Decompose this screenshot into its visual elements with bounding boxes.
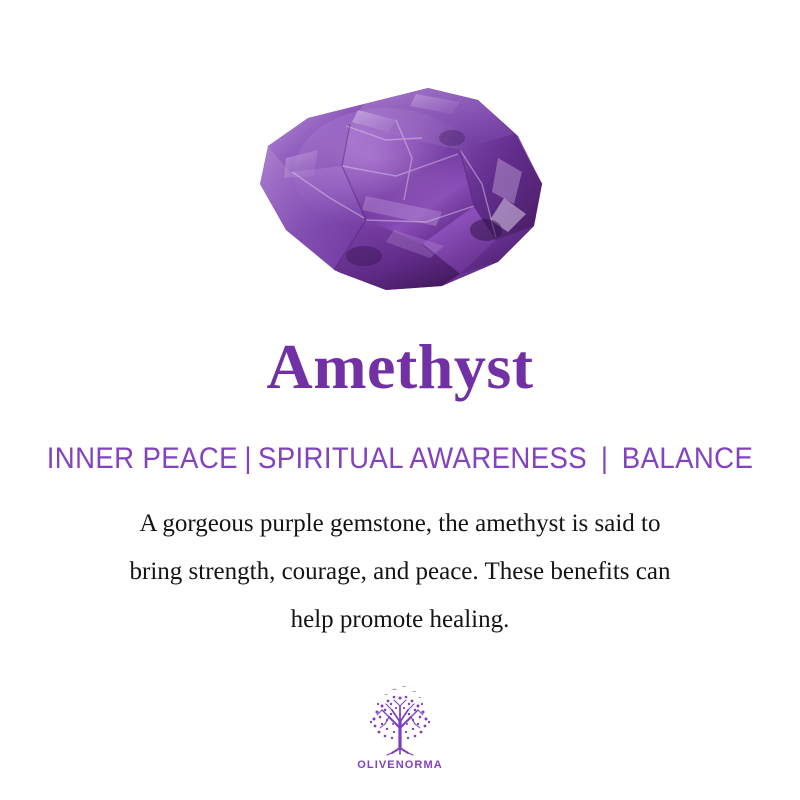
- gemstone-illustration: [246, 80, 562, 298]
- amethyst-gemstone-image: [246, 80, 562, 298]
- gem-inclusion-1: [470, 219, 502, 241]
- keyword-balance: BALANCE: [622, 442, 753, 475]
- description-text: A gorgeous purple gemstone, the amethyst…: [60, 500, 740, 644]
- tree-roots: [387, 748, 413, 755]
- keyword-row: INNER PEACE|SPIRITUAL AWARENESS|BALANCE: [32, 442, 768, 475]
- keyword-spiritual-awareness: SPIRITUAL AWARENESS: [258, 442, 587, 475]
- gem-inclusion-2: [439, 130, 465, 146]
- page-title: Amethyst: [0, 333, 800, 400]
- description-line-2: bring strength, courage, and peace. Thes…: [60, 548, 740, 596]
- keyword-separator-2: |: [587, 442, 622, 475]
- description-line-1: A gorgeous purple gemstone, the amethyst…: [60, 500, 740, 548]
- amethyst-product-card: Amethyst INNER PEACE|SPIRITUAL AWARENESS…: [0, 0, 800, 800]
- brand-name: OLIVENORMA: [357, 759, 443, 771]
- keyword-separator-1: |: [238, 442, 258, 475]
- keyword-inner-peace: INNER PEACE: [47, 442, 238, 475]
- tree-branches: [377, 700, 423, 748]
- gem-inclusion-3: [346, 246, 382, 266]
- tree-birds: [384, 686, 422, 698]
- brand-logo: OLIVENORMA: [0, 684, 800, 771]
- description-line-3: help promote healing.: [60, 596, 740, 644]
- tree-of-life-icon: [358, 684, 442, 758]
